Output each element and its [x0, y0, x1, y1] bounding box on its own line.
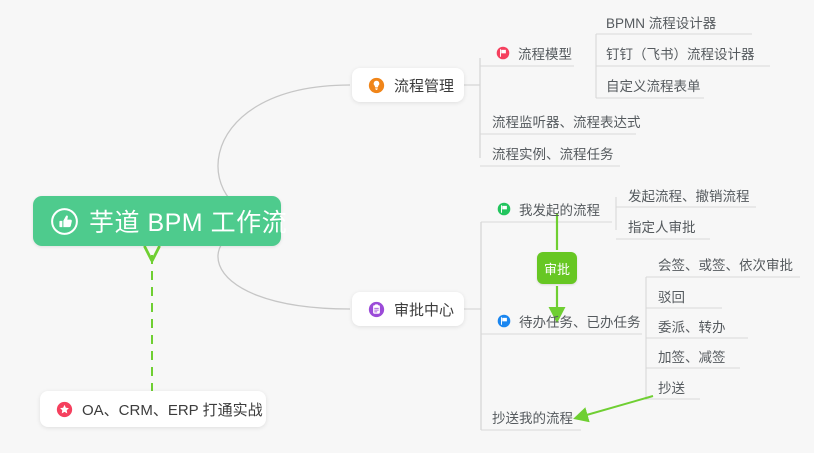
node-cc[interactable]: 抄送 — [654, 374, 689, 400]
node-label: 自定义流程表单 — [606, 75, 701, 95]
node-label: 流程监听器、流程表达式 — [492, 111, 641, 131]
node-label: 待办任务、已办任务 — [519, 311, 641, 331]
branch-label: 流程管理 — [394, 75, 454, 96]
node-label: 我发起的流程 — [519, 199, 600, 219]
floating-node-integration[interactable]: OA、CRM、ERP 打通实战 — [40, 391, 266, 427]
node-cc-my-process[interactable]: 抄送我的流程 — [488, 404, 577, 430]
node-label: 抄送 — [658, 377, 685, 397]
node-label: 流程模型 — [518, 43, 572, 63]
node-label: 流程实例、流程任务 — [492, 143, 614, 163]
node-todo-done-tasks[interactable]: 待办任务、已办任务 — [493, 308, 645, 334]
cc-flow-arrow — [576, 396, 653, 418]
node-label: BPMN 流程设计器 — [606, 12, 716, 32]
node-countersign[interactable]: 会签、或签、依次审批 — [654, 251, 797, 277]
node-label: 发起流程、撤销流程 — [628, 185, 750, 205]
node-assignee-approval[interactable]: 指定人审批 — [624, 213, 700, 239]
branch-label: 审批中心 — [394, 299, 454, 320]
node-start-cancel-process[interactable]: 发起流程、撤销流程 — [624, 182, 754, 208]
root-label: 芋道 BPM 工作流 — [89, 203, 287, 239]
node-label: 委派、转办 — [658, 316, 726, 336]
node-instance-task[interactable]: 流程实例、流程任务 — [488, 140, 618, 166]
node-process-model[interactable]: 流程模型 — [492, 40, 576, 66]
node-label: 抄送我的流程 — [492, 407, 573, 427]
floating-node-label: OA、CRM、ERP 打通实战 — [82, 399, 263, 420]
flag-icon-blue — [497, 314, 511, 328]
branch-approval-center[interactable]: 审批中心 — [352, 292, 464, 326]
approval-badge-label: 审批 — [544, 259, 570, 278]
flag-icon-green — [497, 202, 511, 216]
node-my-initiated-process[interactable]: 我发起的流程 — [493, 196, 604, 222]
root-node[interactable]: 芋道 BPM 工作流 — [33, 196, 281, 246]
mindmap-canvas: 芋道 BPM 工作流 流程管理 流程模型 BPMN 流程设计器 钉钉（飞书）流程… — [0, 0, 814, 453]
node-reject[interactable]: 驳回 — [654, 283, 689, 309]
lightbulb-icon — [368, 77, 385, 94]
node-delegate-transfer[interactable]: 委派、转办 — [654, 313, 730, 339]
clipboard-icon — [368, 301, 385, 318]
node-bpmn-designer[interactable]: BPMN 流程设计器 — [602, 9, 720, 35]
node-label: 驳回 — [658, 286, 685, 306]
branch-process-management[interactable]: 流程管理 — [352, 68, 464, 102]
node-add-remove-sign[interactable]: 加签、减签 — [654, 343, 730, 369]
thumbs-up-icon — [51, 208, 78, 235]
node-dingtalk-designer[interactable]: 钉钉（飞书）流程设计器 — [602, 40, 759, 66]
node-custom-form[interactable]: 自定义流程表单 — [602, 72, 705, 98]
star-icon — [56, 401, 73, 418]
node-label: 会签、或签、依次审批 — [658, 254, 793, 274]
node-label: 钉钉（飞书）流程设计器 — [606, 43, 755, 63]
node-label: 指定人审批 — [628, 216, 696, 236]
approval-badge: 审批 — [537, 252, 577, 284]
node-listener-expression[interactable]: 流程监听器、流程表达式 — [488, 108, 645, 134]
node-label: 加签、减签 — [658, 346, 726, 366]
flag-icon-red — [496, 46, 510, 60]
